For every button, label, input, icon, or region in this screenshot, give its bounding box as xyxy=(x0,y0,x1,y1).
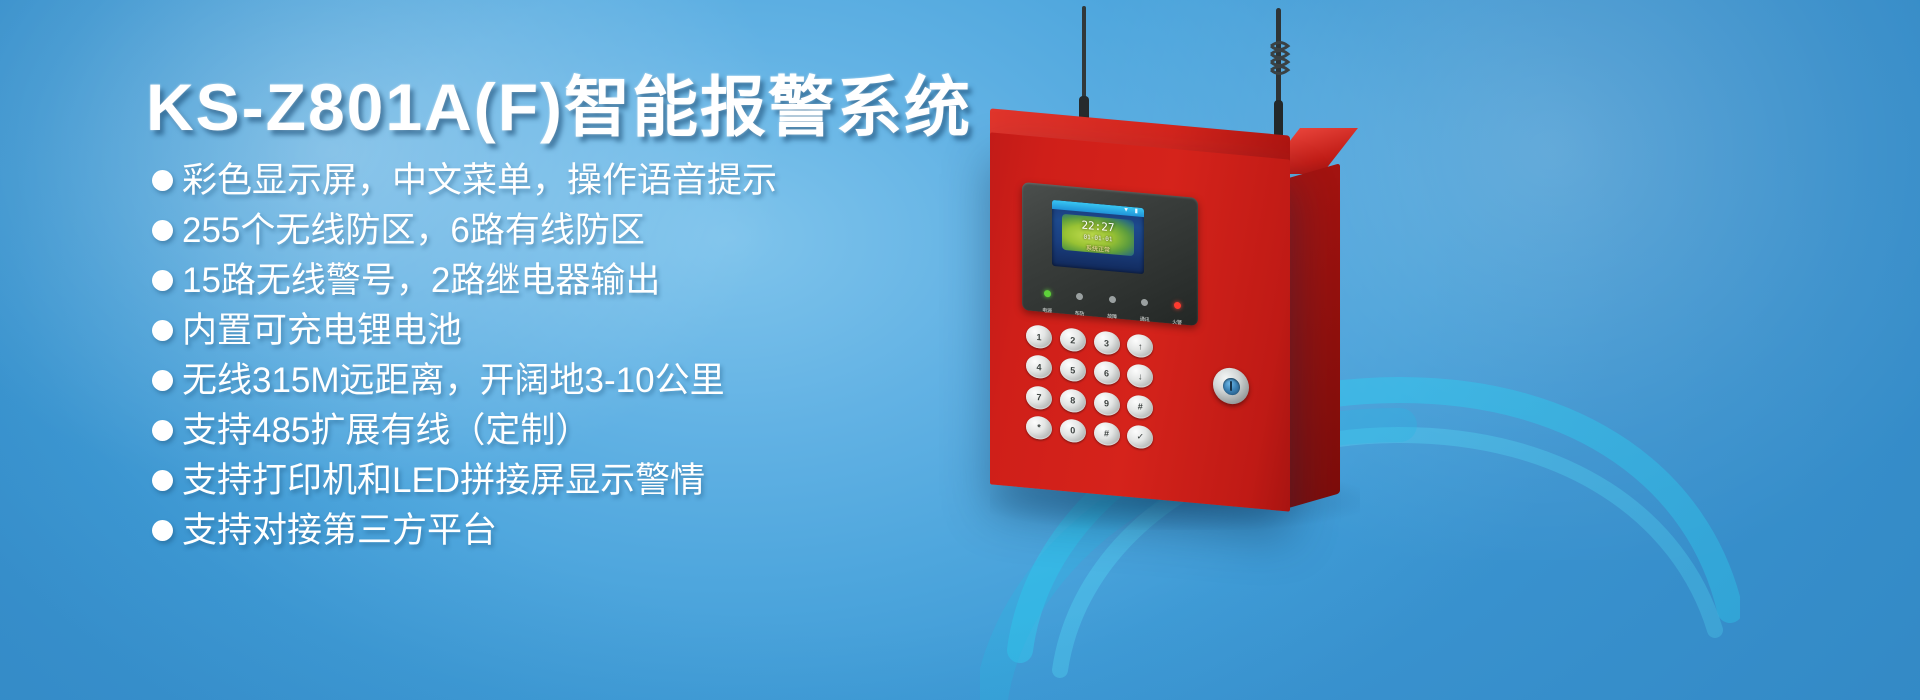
keypad-key[interactable]: 1 xyxy=(1026,324,1052,349)
feature-text: 支持485扩展有线（定制） xyxy=(182,413,590,448)
list-item: 支持485扩展有线（定制） xyxy=(152,405,777,455)
led-label: 故障 xyxy=(1107,314,1116,321)
keypad-key[interactable]: # xyxy=(1094,421,1120,446)
led-cell: 故障 xyxy=(1099,295,1125,324)
list-item: 彩色显示屏，中文菜单，操作语音提示 xyxy=(152,155,777,205)
enclosure-side-face xyxy=(1286,163,1340,508)
product-device-image: ▼ ▮ 22:27 01-01-01 系统正常 电源 布防 故障 xyxy=(930,0,1490,700)
feature-list: 彩色显示屏，中文菜单，操作语音提示 255个无线防区，6路有线防区 15路无线警… xyxy=(152,155,777,555)
product-banner: KS-Z801A(F)智能报警系统 彩色显示屏，中文菜单，操作语音提示 255个… xyxy=(0,0,1920,700)
lcd-display: ▼ ▮ 22:27 01-01-01 系统正常 xyxy=(1052,200,1144,274)
led-indicator-icon xyxy=(1174,302,1181,310)
keypad-key[interactable]: * xyxy=(1026,415,1052,440)
keypad-key[interactable]: # xyxy=(1127,394,1153,419)
list-item: 255个无线防区，6路有线防区 xyxy=(152,205,777,255)
feature-text: 支持对接第三方平台 xyxy=(182,513,497,548)
led-label: 电源 xyxy=(1042,308,1051,315)
led-cell: 通讯 xyxy=(1132,298,1158,327)
list-item: 内置可充电锂电池 xyxy=(152,305,777,355)
bullet-dot-icon xyxy=(152,470,173,491)
keypad-key[interactable]: 8 xyxy=(1060,388,1086,413)
led-label: 布防 xyxy=(1075,311,1084,318)
feature-text: 内置可充电锂电池 xyxy=(182,313,462,348)
led-indicator-icon xyxy=(1141,299,1148,307)
keypad-key[interactable]: 5 xyxy=(1060,357,1086,382)
led-indicator-icon xyxy=(1044,290,1051,298)
bullet-dot-icon xyxy=(152,420,173,441)
bullet-dot-icon xyxy=(152,170,173,191)
list-item: 支持对接第三方平台 xyxy=(152,505,777,555)
led-indicator-icon xyxy=(1076,293,1083,301)
led-label: 火警 xyxy=(1172,319,1181,326)
list-item: 15路无线警号，2路继电器输出 xyxy=(152,255,777,305)
led-cell: 电源 xyxy=(1034,289,1060,318)
list-item: 无线315M远距离，开阔地3-10公里 xyxy=(152,355,777,405)
keypad-key[interactable]: 7 xyxy=(1026,385,1052,410)
list-item: 支持打印机和LED拼接屏显示警情 xyxy=(152,455,777,505)
bullet-dot-icon xyxy=(152,520,173,541)
feature-text: 彩色显示屏，中文菜单，操作语音提示 xyxy=(182,163,777,198)
keypad-key[interactable]: ↑ xyxy=(1127,333,1153,358)
feature-text: 支持打印机和LED拼接屏显示警情 xyxy=(182,463,705,498)
led-indicator-icon xyxy=(1109,296,1116,304)
lcd-content: 22:27 01-01-01 系统正常 xyxy=(1052,209,1144,274)
lock-keyhole xyxy=(1223,377,1240,396)
keypad-key[interactable]: 0 xyxy=(1060,418,1086,443)
bullet-dot-icon xyxy=(152,370,173,391)
keypad-key[interactable]: 4 xyxy=(1026,354,1052,379)
bullet-dot-icon xyxy=(152,320,173,341)
keypad-key[interactable]: 2 xyxy=(1060,327,1086,352)
bullet-dot-icon xyxy=(152,220,173,241)
keypad[interactable]: 1 2 3 ↑ 4 5 6 ↓ 7 8 9 # * 0 # ✓ xyxy=(1026,324,1156,452)
keypad-key[interactable]: 6 xyxy=(1094,360,1120,385)
feature-text: 15路无线警号，2路继电器输出 xyxy=(182,263,660,298)
keypad-key[interactable]: 9 xyxy=(1094,391,1120,416)
led-cell: 火警 xyxy=(1164,301,1190,330)
led-cell: 布防 xyxy=(1067,292,1093,321)
feature-text: 255个无线防区，6路有线防区 xyxy=(182,213,645,248)
keypad-key[interactable]: ✓ xyxy=(1127,424,1153,449)
feature-text: 无线315M远距离，开阔地3-10公里 xyxy=(182,363,725,398)
led-label: 通讯 xyxy=(1140,317,1149,324)
bullet-dot-icon xyxy=(152,270,173,291)
page-title: KS-Z801A(F)智能报警系统 xyxy=(146,54,972,150)
keypad-key[interactable]: ↓ xyxy=(1127,364,1153,389)
keypad-key[interactable]: 3 xyxy=(1094,330,1120,355)
